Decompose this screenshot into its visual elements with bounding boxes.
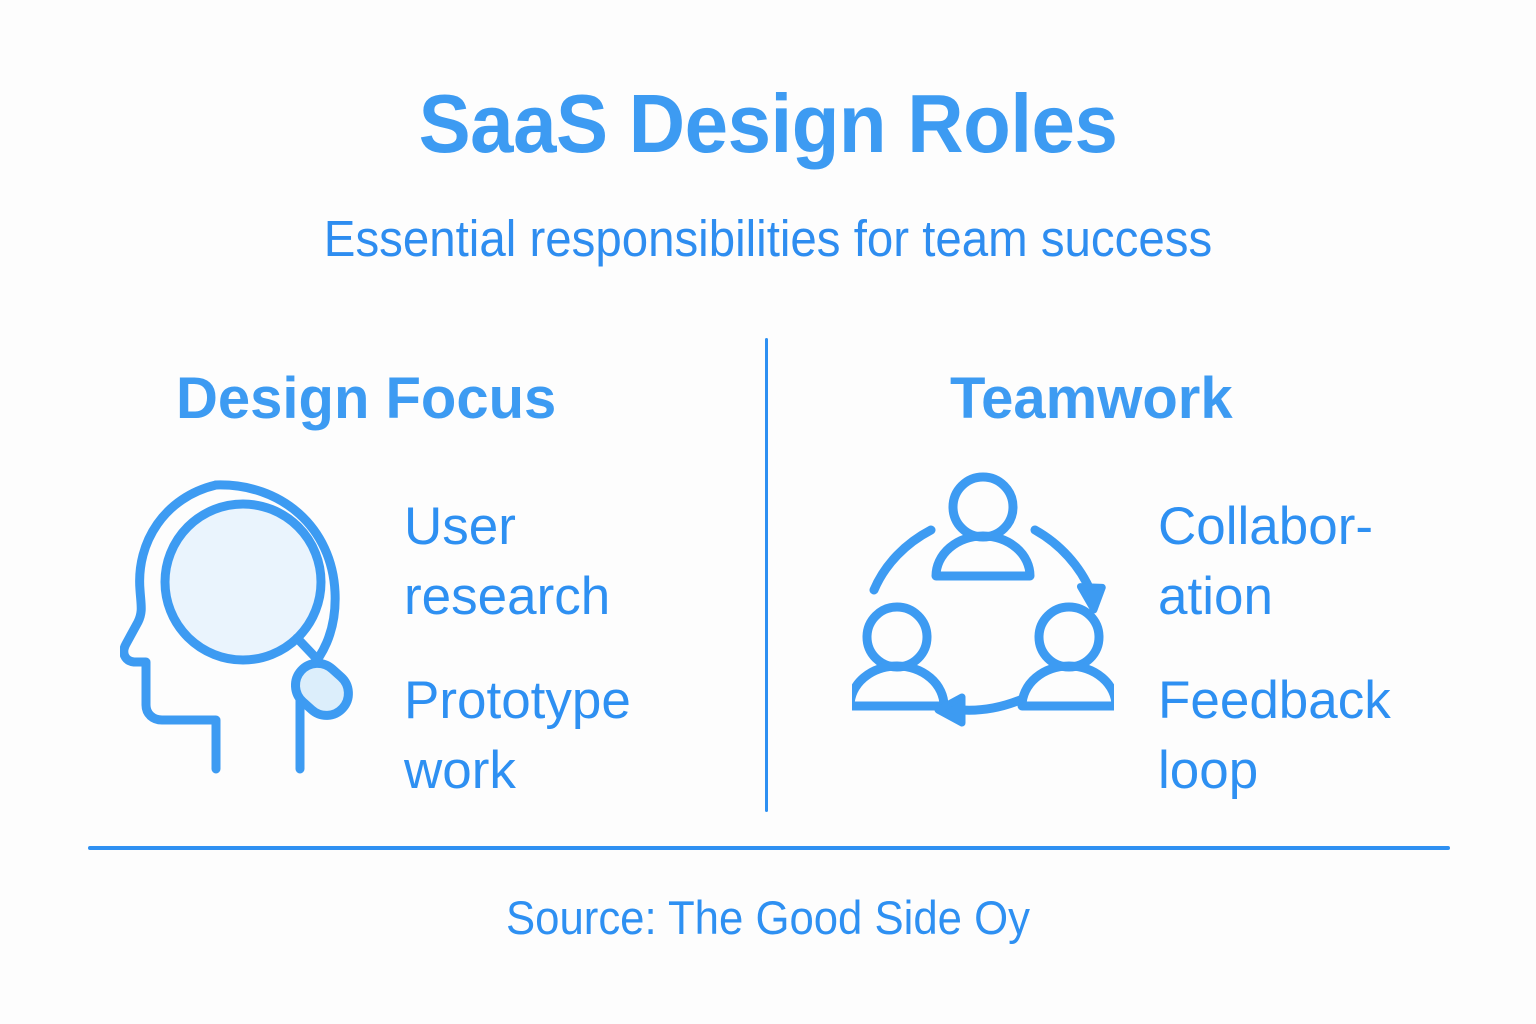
- design-focus-item-list: User research Prototype work: [404, 492, 704, 806]
- column-heading-design-focus: Design Focus: [176, 370, 556, 428]
- column-heading-teamwork: Teamwork: [950, 370, 1233, 428]
- teamwork-item-list: Collabor- ation Feedback loop: [1158, 492, 1468, 806]
- infographic-canvas: SaaS Design Roles Essential responsibili…: [0, 0, 1536, 1024]
- page-subtitle: Essential responsibilities for team succ…: [54, 211, 1482, 267]
- list-item: Collabor- ation: [1158, 492, 1468, 632]
- footer-divider: [88, 846, 1450, 850]
- list-item: User research: [404, 492, 704, 632]
- page-title: SaaS Design Roles: [46, 82, 1490, 167]
- list-item: Feedback loop: [1158, 666, 1468, 806]
- three-people-cycle-icon: [852, 466, 1114, 728]
- head-magnifier-icon: [120, 462, 380, 782]
- list-item: Prototype work: [404, 666, 704, 806]
- column-divider: [765, 338, 768, 812]
- source-attribution: Source: The Good Side Oy: [54, 890, 1482, 945]
